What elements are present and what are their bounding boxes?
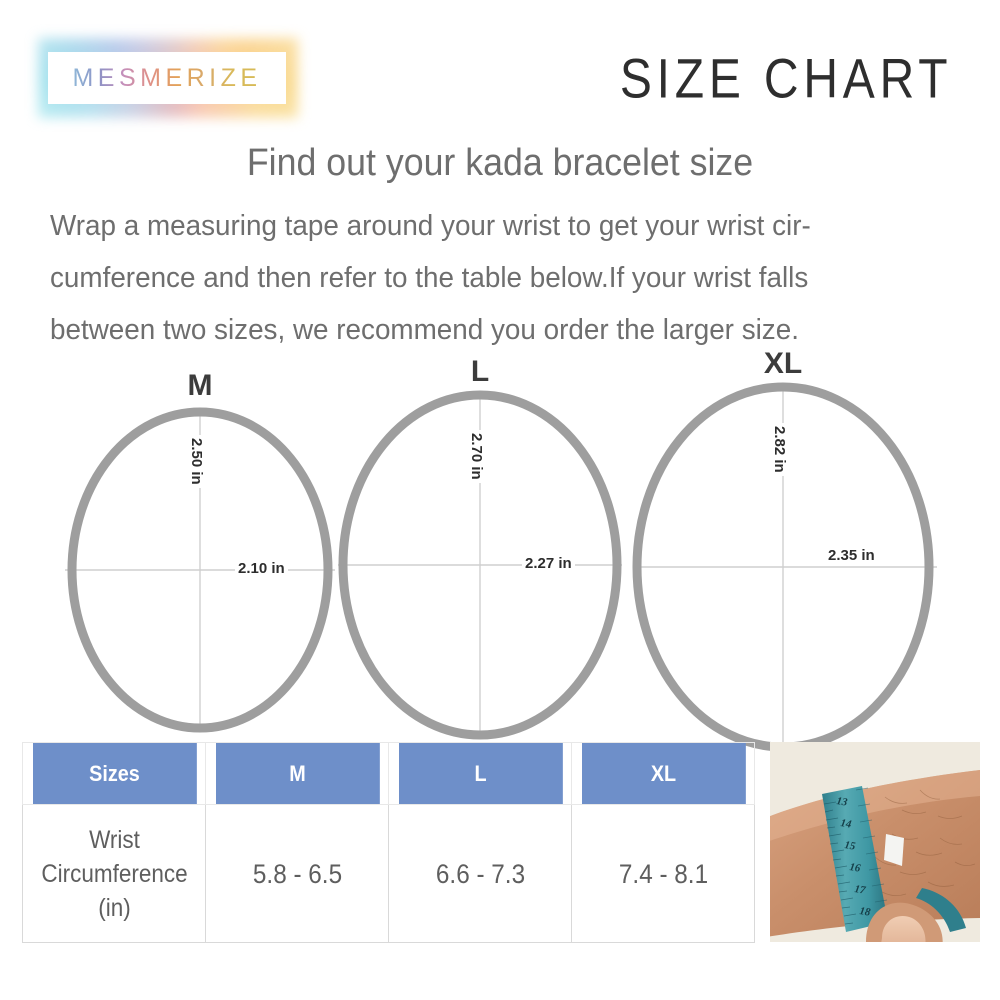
row-label-wrist-circumference: Wrist Circumference (in): [32, 805, 197, 943]
photo-illustration: 13 14 15 16 17 18: [770, 742, 980, 942]
brand-name: MESMERIZE: [72, 64, 261, 93]
oval-width-label-m: 2.10 in: [235, 560, 288, 577]
table-header-row: Sizes M L XL: [23, 743, 755, 805]
table-header-l: L: [398, 743, 563, 805]
brand-logo: MESMERIZE: [48, 48, 288, 108]
oval-size-label-l: L: [471, 355, 489, 389]
row-label-line: (in): [32, 891, 196, 925]
row-label-line: Wrist: [32, 823, 196, 857]
cell-value-l: 6.6 - 7.3: [398, 805, 563, 943]
intro-line: Wrap a measuring tape around your wrist …: [50, 200, 914, 252]
cell-value-xl: 7.4 - 8.1: [581, 805, 746, 943]
oval-width-label-xl: 2.35 in: [825, 547, 878, 564]
logo-box: MESMERIZE: [48, 52, 286, 104]
oval-size-label-m: M: [188, 369, 213, 403]
wrist-measurement-photo: 13 14 15 16 17 18: [770, 742, 980, 942]
row-label-line: Circumference: [32, 857, 196, 891]
table-header-xl: XL: [581, 743, 746, 805]
page-title: SIZE CHART: [620, 46, 952, 111]
cell-value-m: 5.8 - 6.5: [215, 805, 380, 943]
oval-height-label-l: 2.70 in: [468, 430, 485, 483]
table-header-sizes: Sizes: [32, 743, 197, 805]
oval-height-label-xl: 2.82 in: [771, 423, 788, 476]
table-header-m: M: [215, 743, 380, 805]
intro-line: cumference and then refer to the table b…: [50, 252, 914, 304]
size-chart-page: MESMERIZE SIZE CHART Find out your kada …: [0, 0, 1000, 1000]
table-row: Wrist Circumference (in) 5.8 - 6.5 6.6 -…: [23, 805, 755, 943]
oval-width-label-l: 2.27 in: [522, 555, 575, 572]
oval-height-label-m: 2.50 in: [188, 435, 205, 488]
oval-diagram-group: M 2.50 in 2.10 in L 2.70 in 2.27 in XL: [0, 355, 1000, 745]
oval-size-label-xl: XL: [764, 347, 802, 381]
size-table: Sizes M L XL Wrist Circumference (in) 5.…: [22, 742, 755, 943]
headline: Find out your kada bracelet size: [30, 142, 970, 185]
intro-paragraph: Wrap a measuring tape around your wrist …: [50, 200, 914, 356]
